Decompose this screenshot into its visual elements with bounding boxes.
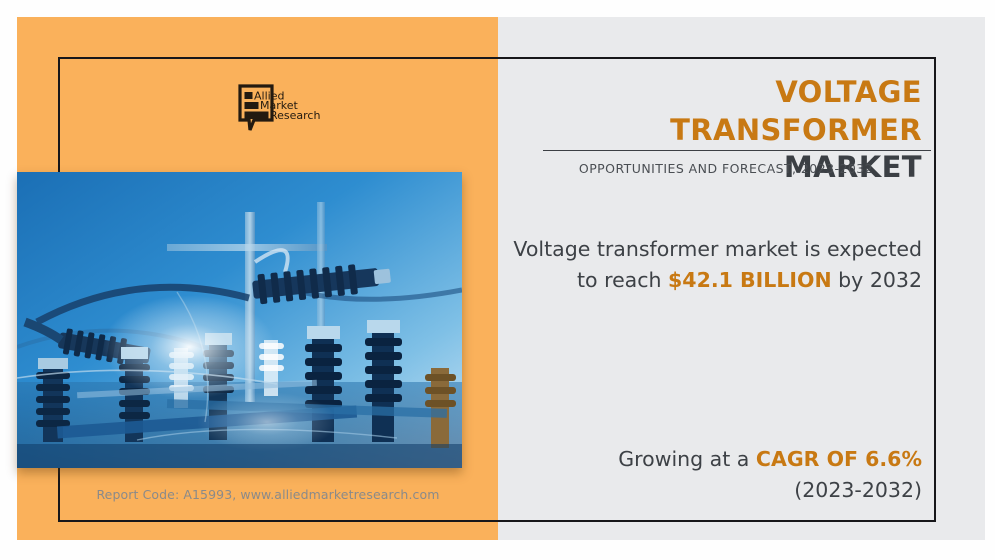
title-word-voltage: VOLTAGE: [775, 75, 922, 109]
cagr-period: (2023-2032): [794, 478, 922, 502]
market-value-highlight: $42.1 BILLION: [668, 268, 832, 292]
infographic-canvas: Allied Market Research: [0, 0, 995, 560]
cagr-lead: Growing at a: [618, 447, 749, 471]
report-code-text: Report Code: A15993, www.alliedmarketres…: [58, 487, 478, 502]
market-value-tail: by 2032: [838, 268, 922, 292]
svg-text:Research: Research: [270, 109, 320, 122]
title-divider: [543, 150, 931, 151]
title-word-transformer: TRANSFORMER: [670, 113, 922, 147]
cagr-highlight: CAGR OF 6.6%: [756, 447, 922, 471]
cagr-statement: Growing at a CAGR OF 6.6% (2023-2032): [506, 444, 922, 506]
market-value-statement: Voltage transformer market is expected t…: [506, 234, 922, 296]
electrical-substation-photo: [17, 172, 462, 468]
subtitle: OPPORTUNITIES AND FORECAST, 2023-2032: [530, 161, 922, 176]
allied-market-research-logo: Allied Market Research: [232, 82, 328, 138]
